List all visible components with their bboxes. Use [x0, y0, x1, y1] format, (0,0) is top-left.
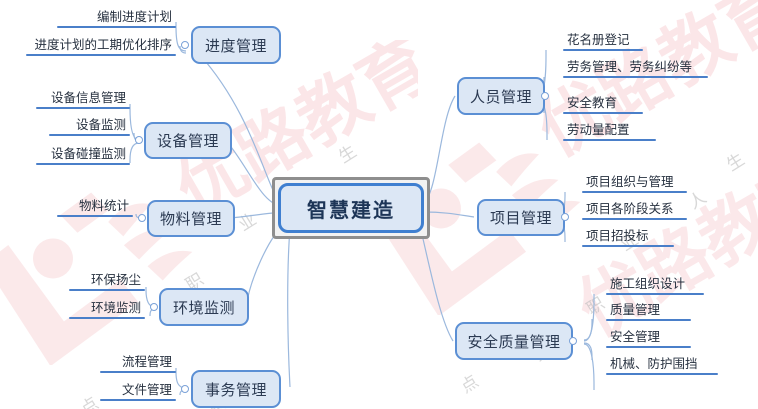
leaf-underline: [582, 218, 687, 221]
mindmap-canvas: 优路教育 优路教育 优路教育 职 业 生 点 亮 职 亮 点 生 人 业: [0, 0, 758, 409]
leaf-label: 劳动量配置: [567, 123, 630, 137]
leaf-label: 流程管理: [122, 355, 172, 369]
leaf-underline: [100, 371, 176, 374]
edge-equipment-leaf-2: [130, 143, 139, 163]
branch-label-safety: 安全质量管理: [467, 331, 560, 352]
edge-center-affairs: [288, 228, 290, 387]
leaf-underline: [606, 293, 704, 296]
leaf-label: 质量管理: [610, 303, 660, 317]
leaf-label: 环境监测: [91, 301, 141, 315]
branch-connector-dot-affairs: [181, 385, 189, 393]
branch-label-schedule: 进度管理: [205, 35, 267, 56]
leaf-label: 编制进度计划: [97, 10, 172, 24]
branch-label-project: 项目管理: [490, 207, 552, 228]
leaf-label: 机械、防护围挡: [610, 357, 698, 371]
leaf-label: 设备监测: [76, 118, 126, 132]
leaf-label: 进度计划的工期优化排序: [34, 38, 172, 52]
leaf-safety-2[interactable]: 安全管理: [606, 327, 691, 348]
edge-safety-leaf-1: [584, 319, 592, 340]
leaf-underline: [100, 399, 176, 402]
leaf-underline: [49, 134, 130, 137]
branch-label-equipment: 设备管理: [157, 130, 219, 151]
leaf-underline: [582, 245, 674, 248]
edge-safety-leaf-0: [584, 294, 594, 341]
leaf-environment-1[interactable]: 环境监测: [69, 298, 145, 319]
branch-connector-dot-equipment: [135, 136, 143, 144]
branch-node-project[interactable]: 项目管理: [477, 199, 565, 236]
leaf-project-1[interactable]: 项目各阶段关系: [582, 199, 687, 220]
leaf-underline: [57, 26, 176, 29]
center-node[interactable]: 智慧建造: [278, 183, 424, 233]
branch-connector-dot-project: [561, 213, 569, 221]
branch-connector-dot-safety: [569, 337, 577, 345]
leaf-underline: [69, 289, 145, 292]
branch-node-equipment[interactable]: 设备管理: [144, 122, 232, 159]
leaf-underline: [606, 373, 718, 376]
edge-safety-leaf-3: [584, 344, 594, 390]
leaf-label: 劳务管理、劳务纠纷等: [567, 60, 692, 74]
leaf-underline: [582, 191, 687, 194]
leaf-schedule-0[interactable]: 编制进度计划: [57, 6, 176, 28]
leaf-personnel-0[interactable]: 花名册登记: [563, 30, 643, 51]
leaf-personnel-2[interactable]: 安全教育: [563, 93, 643, 114]
leaf-equipment-2[interactable]: 设备碰撞监测: [36, 144, 130, 165]
leaf-label: 物料统计: [79, 199, 129, 213]
leaf-underline: [606, 319, 691, 322]
leaf-environment-0[interactable]: 环保扬尘: [69, 270, 145, 291]
branch-label-personnel: 人员管理: [470, 86, 532, 107]
leaf-label: 项目组织与管理: [586, 175, 674, 189]
leaf-schedule-1[interactable]: 进度计划的工期优化排序: [26, 34, 176, 56]
leaf-safety-1[interactable]: 质量管理: [606, 300, 691, 321]
leaf-underline: [69, 317, 145, 320]
leaf-label: 设备信息管理: [51, 91, 126, 105]
edge-center-safety: [420, 226, 453, 341]
leaf-personnel-1[interactable]: 劳务管理、劳务纠纷等: [563, 57, 708, 78]
leaf-underline: [563, 139, 656, 142]
leaf-underline: [57, 215, 133, 218]
branch-label-environment: 环境监测: [173, 297, 235, 318]
leaf-label: 花名册登记: [567, 33, 630, 47]
edge-center-project: [424, 212, 474, 217]
leaf-personnel-3[interactable]: 劳动量配置: [563, 120, 656, 141]
leaf-affairs-0[interactable]: 流程管理: [100, 352, 176, 373]
leaf-label: 文件管理: [122, 383, 172, 397]
branch-node-material[interactable]: 物料管理: [147, 200, 235, 237]
leaf-equipment-0[interactable]: 设备信息管理: [36, 88, 130, 109]
leaf-safety-0[interactable]: 施工组织设计: [606, 274, 704, 295]
center-node-label: 智慧建造: [307, 194, 395, 223]
branch-connector-dot-schedule: [181, 41, 189, 49]
branch-connector-dot-environment: [150, 303, 158, 311]
leaf-project-0[interactable]: 项目组织与管理: [582, 172, 687, 193]
leaf-label: 安全教育: [567, 96, 617, 110]
branch-label-affairs: 事务管理: [205, 379, 267, 400]
branch-connector-dot-material: [138, 214, 146, 222]
branch-node-affairs[interactable]: 事务管理: [191, 370, 281, 408]
leaf-material-0[interactable]: 物料统计: [57, 196, 133, 217]
leaf-label: 项目招投标: [586, 229, 649, 243]
leaf-label: 安全管理: [610, 330, 660, 344]
leaf-underline: [606, 346, 691, 349]
leaf-label: 施工组织设计: [610, 277, 685, 291]
leaf-underline: [26, 54, 176, 57]
leaf-underline: [563, 112, 643, 115]
leaf-label: 设备碰撞监测: [51, 147, 126, 161]
leaf-affairs-1[interactable]: 文件管理: [100, 380, 176, 401]
branch-node-environment[interactable]: 环境监测: [159, 288, 249, 326]
leaf-project-2[interactable]: 项目招投标: [582, 226, 674, 247]
branch-node-safety[interactable]: 安全质量管理: [455, 322, 573, 360]
branch-node-schedule[interactable]: 进度管理: [191, 26, 281, 64]
branch-node-personnel[interactable]: 人员管理: [457, 77, 545, 115]
leaf-label: 项目各阶段关系: [586, 202, 674, 216]
leaf-safety-3[interactable]: 机械、防护围挡: [606, 354, 718, 375]
leaf-equipment-1[interactable]: 设备监测: [49, 115, 130, 136]
branch-label-material: 物料管理: [160, 208, 222, 229]
branch-connector-dot-personnel: [541, 92, 549, 100]
leaf-label: 环保扬尘: [91, 273, 141, 287]
leaf-underline: [36, 163, 130, 166]
leaf-underline: [36, 107, 130, 110]
leaf-underline: [563, 49, 643, 52]
leaf-underline: [563, 76, 708, 79]
